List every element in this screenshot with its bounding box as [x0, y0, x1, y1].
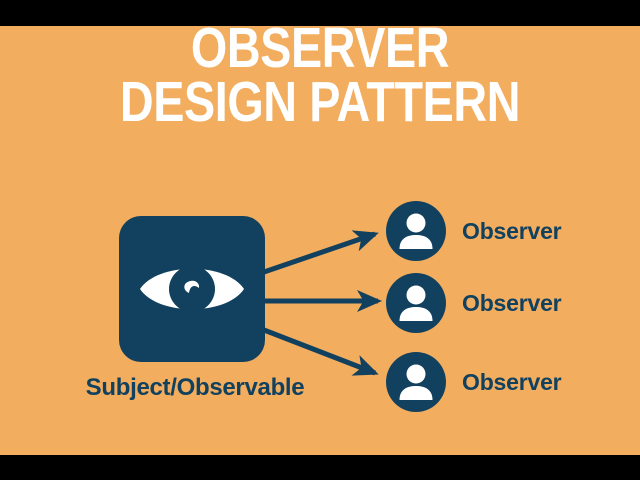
observer-label-1: Observer — [462, 218, 561, 245]
person-glyph-icon — [395, 282, 437, 324]
subject-label: Subject/Observable — [55, 374, 335, 402]
title-line-2: DESIGN PATTERN — [58, 76, 583, 128]
title-block: OBSERVER DESIGN PATTERN — [0, 22, 640, 129]
letterbox-bar-bottom — [0, 455, 640, 480]
observer-node-2: Observer — [386, 273, 561, 333]
person-avatar-icon — [386, 273, 446, 333]
person-glyph-icon — [395, 210, 437, 252]
person-glyph-icon — [395, 361, 437, 403]
slide-canvas: OBSERVER DESIGN PATTERN Subject/Observab… — [0, 0, 640, 480]
person-avatar-icon — [386, 201, 446, 261]
observer-node-3: Observer — [386, 352, 561, 412]
eye-icon — [136, 254, 248, 324]
observer-node-1: Observer — [386, 201, 561, 261]
letterbox-bar-top — [0, 0, 640, 26]
title-line-1: OBSERVER — [58, 22, 583, 74]
person-avatar-icon — [386, 352, 446, 412]
subject-box — [119, 216, 265, 362]
subject-node — [119, 216, 265, 362]
observer-label-2: Observer — [462, 290, 561, 317]
observer-label-3: Observer — [462, 369, 561, 396]
